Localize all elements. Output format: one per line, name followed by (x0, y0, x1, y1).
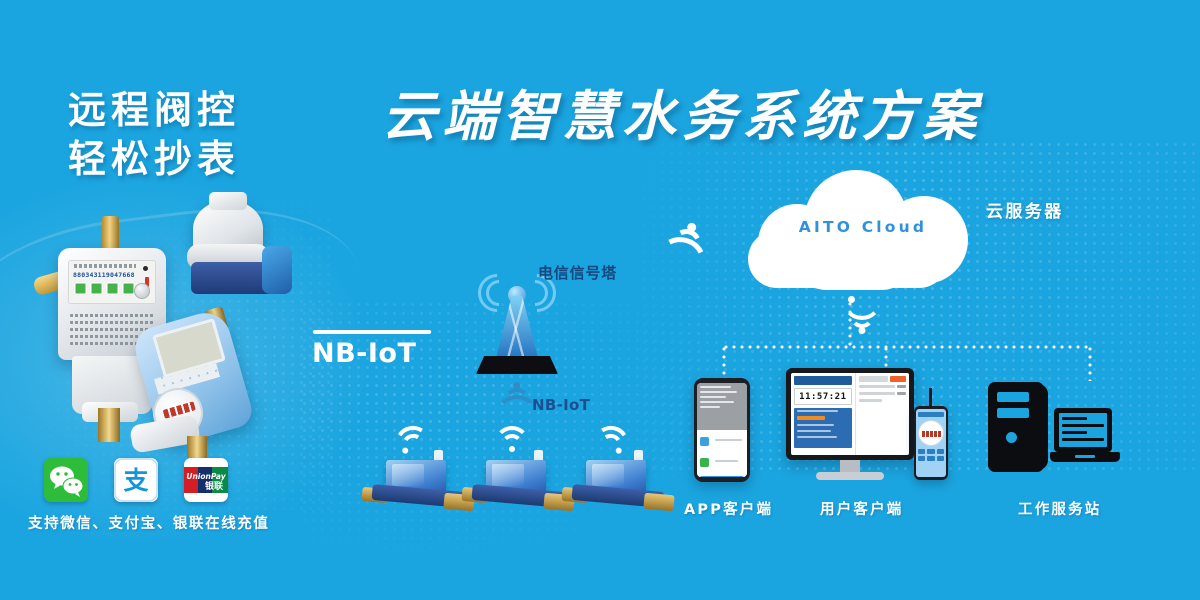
app-phone-screen-top (697, 383, 747, 430)
meter-display-plate: 880343119047668 (68, 260, 156, 304)
user-client-monitor: 11:57:21 (786, 368, 914, 488)
server-side-panel (1032, 384, 1048, 470)
headline-left-line1: 远程阀控 (68, 86, 240, 135)
wifi-icon-cloud-downlink (840, 300, 884, 334)
svg-text:UnionPay: UnionPay (186, 472, 226, 481)
meter-sensor-dot (143, 266, 148, 271)
app-phone-screen-bottom (697, 430, 747, 477)
wifi-icon-cloud-uplink (650, 214, 721, 276)
payment-caption: 支持微信、支付宝、银联在线充值 (28, 512, 270, 533)
server-drive-bay (997, 392, 1029, 402)
user-phone-meter-dial (918, 420, 944, 446)
svg-text:支: 支 (123, 466, 148, 495)
valve-actuator (262, 246, 292, 294)
cloud-name: AITO Cloud (748, 218, 978, 236)
wifi-icon-meter-2 (492, 424, 532, 454)
meter-display-digits: 880343119047668 (73, 271, 135, 279)
alipay-icon[interactable]: 支 (114, 458, 158, 502)
meter-microlabel (74, 264, 136, 268)
wechat-pay-icon[interactable] (44, 458, 88, 502)
product-photo-group: 880343119047668 (30, 200, 320, 450)
monitor-panel-right (855, 373, 909, 455)
connector-line-horizontal (722, 345, 1090, 349)
laptop-base (1050, 452, 1120, 462)
monitor-toolbar (859, 376, 906, 382)
user-phone-screen (916, 409, 946, 477)
work-station-icon (988, 382, 1120, 482)
user-client-phone (914, 406, 948, 480)
connector-line-cloud-drop (848, 300, 852, 346)
page-title: 云端智慧水务系统方案 (382, 90, 982, 144)
banner-canvas: 远程阀控 轻松抄表 云端智慧水务系统方案 880343119047668 (0, 0, 1200, 600)
app-client-label: APP客户端 (684, 498, 773, 519)
monitor-title-bar (794, 376, 852, 385)
lcd-meter-brass-foot (187, 436, 207, 458)
water-meter-node-3 (566, 452, 674, 516)
monitor-screen: 11:57:21 (791, 373, 909, 455)
user-phone-header (918, 412, 944, 417)
cloud-server-icon: AITO Cloud (748, 170, 978, 296)
water-meter-node-1 (366, 452, 474, 516)
laptop-icon (1050, 408, 1120, 470)
app-item-icon-1 (700, 437, 709, 446)
monitor-row (859, 385, 906, 388)
telecom-tower-label: 电信信号塔 (538, 262, 617, 283)
server-tower-icon (988, 382, 1044, 472)
app-item-icon-2 (700, 458, 709, 467)
water-meter-node-2 (466, 452, 574, 516)
connector-line-drop-workstation (1088, 345, 1092, 381)
monitor-row (859, 399, 906, 402)
tower-base-pad (476, 356, 558, 374)
wifi-icon-tower-uplink (492, 382, 542, 418)
connector-line-drop-app (722, 345, 726, 381)
monitor-bezel: 11:57:21 (786, 368, 914, 460)
work-station-label: 工作服务站 (1018, 498, 1102, 519)
meter-brass-stem (98, 408, 120, 442)
monitor-row (859, 392, 906, 395)
telecom-tower-icon (462, 272, 572, 377)
cloud-server-label: 云服务器 (986, 197, 1064, 222)
server-drive-bay (997, 408, 1029, 418)
headline-left-line2: 轻松抄表 (68, 135, 240, 184)
payment-logos: 支 UnionPay 银联 (44, 458, 228, 502)
app-client-phone (694, 378, 750, 482)
headline-left: 远程阀控 轻松抄表 (68, 86, 240, 183)
laptop-display (1059, 413, 1107, 447)
lcd-water-meter (145, 308, 285, 453)
monitor-device-list (794, 408, 852, 448)
unionpay-icon[interactable]: UnionPay 银联 (184, 458, 228, 502)
user-client-label: 用户客户端 (820, 498, 904, 519)
meter-knob (134, 283, 150, 299)
app-primary-button[interactable] (700, 476, 744, 477)
server-power-button (1006, 432, 1017, 443)
svg-text:银联: 银联 (205, 480, 224, 492)
monitor-panel-left: 11:57:21 (791, 373, 855, 455)
app-phone-screen (697, 383, 747, 477)
meter-status-leds (74, 282, 135, 295)
monitor-stand (816, 472, 884, 480)
monitor-clock: 11:57:21 (794, 388, 852, 405)
user-phone-button-grid (918, 449, 944, 461)
nbiot-primary-label: NB-IoT (312, 330, 416, 369)
phone-stand-rod (929, 388, 932, 408)
laptop-lid (1054, 408, 1112, 452)
